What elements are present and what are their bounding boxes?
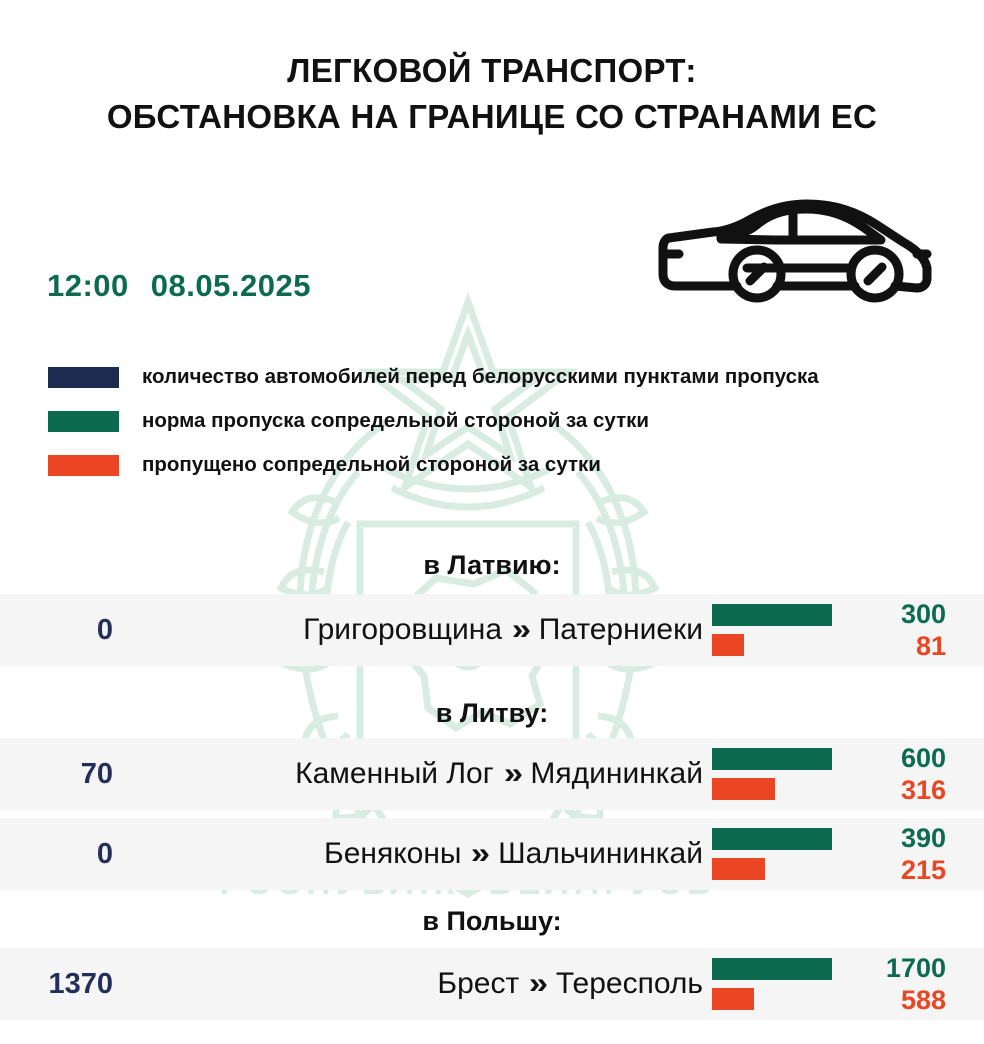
checkpoint-from: Каменный Лог [295,757,494,791]
value-norm: 390 [901,823,946,853]
bar-passed [712,634,744,656]
checkpoint-to: Тересполь [556,967,703,1001]
checkpoint-from: Брест [437,967,519,1001]
chevron-right-icon: » [529,967,546,1001]
queue-count: 0 [0,818,113,890]
timestamp: 12:0008.05.2025 [47,268,311,304]
queue-count: 70 [0,738,113,810]
route: Григоровщина » Патерниеки [113,594,703,666]
section-heading-latvia: в Латвию: [0,552,984,579]
bar-passed [712,778,775,800]
value-norm: 300 [901,599,946,629]
checkpoint-to: Шальчининкай [498,837,703,871]
bar-norm [712,958,832,980]
section-heading-lithuania: в Литву: [0,700,984,727]
bar-norm [712,748,832,770]
bar-norm [712,828,832,850]
value-group: 300 81 [901,594,946,666]
value-group: 1700 588 [886,948,946,1020]
chevron-right-icon: » [512,613,529,647]
queue-count: 1370 [0,948,113,1020]
section-heading-poland: в Польшу: [0,908,984,935]
table-row: 70 Каменный Лог » Мядининкай 600 316 [0,738,984,810]
legend-swatch-passed [48,455,119,476]
route: Каменный Лог » Мядининкай [113,738,703,810]
table-row: 0 Беняконы » Шальчининкай 390 215 [0,818,984,890]
bar-group [712,738,862,810]
checkpoint-to: Мядининкай [530,757,703,791]
value-group: 390 215 [901,818,946,890]
legend: количество автомобилей перед белорусским… [48,355,948,487]
car-icon [655,192,935,304]
checkpoint-from: Беняконы [324,837,461,871]
legend-label-queue: количество автомобилей перед белорусским… [142,367,819,388]
infographic-root: ЛЕГКОВОЙ ТРАНСПОРТ: ОБСТАНОВКА НА ГРАНИЦ… [0,0,984,1044]
timestamp-time: 12:00 [47,268,129,303]
chevron-right-icon: » [471,837,488,871]
bar-group [712,948,862,1020]
legend-item-passed: пропущено сопредельной стороной за сутки [48,443,948,487]
bar-group [712,818,862,890]
legend-swatch-norm [48,411,119,432]
route: Беняконы » Шальчининкай [113,818,703,890]
bar-norm [712,604,832,626]
table-row: 1370 Брест » Тересполь 1700 588 [0,948,984,1020]
value-norm: 1700 [886,953,946,983]
legend-label-norm: норма пропуска сопредельной стороной за … [142,411,649,432]
value-norm: 600 [901,743,946,773]
legend-item-norm: норма пропуска сопредельной стороной за … [48,399,948,443]
value-passed: 316 [901,775,946,805]
checkpoint-from: Григоровщина [303,613,502,647]
legend-swatch-queue [48,367,119,388]
value-passed: 215 [901,855,946,885]
bar-group [712,594,862,666]
bar-passed [712,988,754,1010]
queue-count: 0 [0,594,113,666]
value-passed: 81 [916,631,946,661]
title-line-1: ЛЕГКОВОЙ ТРАНСПОРТ: [0,48,984,94]
chevron-right-icon: » [504,757,521,791]
title-line-2: ОБСТАНОВКА НА ГРАНИЦЕ СО СТРАНАМИ ЕС [0,94,984,140]
value-passed: 588 [901,985,946,1015]
bar-passed [712,858,765,880]
legend-item-queue: количество автомобилей перед белорусским… [48,355,948,399]
legend-label-passed: пропущено сопредельной стороной за сутки [142,455,601,476]
checkpoint-to: Патерниеки [539,613,703,647]
table-row: 0 Григоровщина » Патерниеки 300 81 [0,594,984,666]
value-group: 600 316 [901,738,946,810]
page-title: ЛЕГКОВОЙ ТРАНСПОРТ: ОБСТАНОВКА НА ГРАНИЦ… [0,48,984,140]
timestamp-date: 08.05.2025 [151,268,311,303]
route: Брест » Тересполь [113,948,703,1020]
